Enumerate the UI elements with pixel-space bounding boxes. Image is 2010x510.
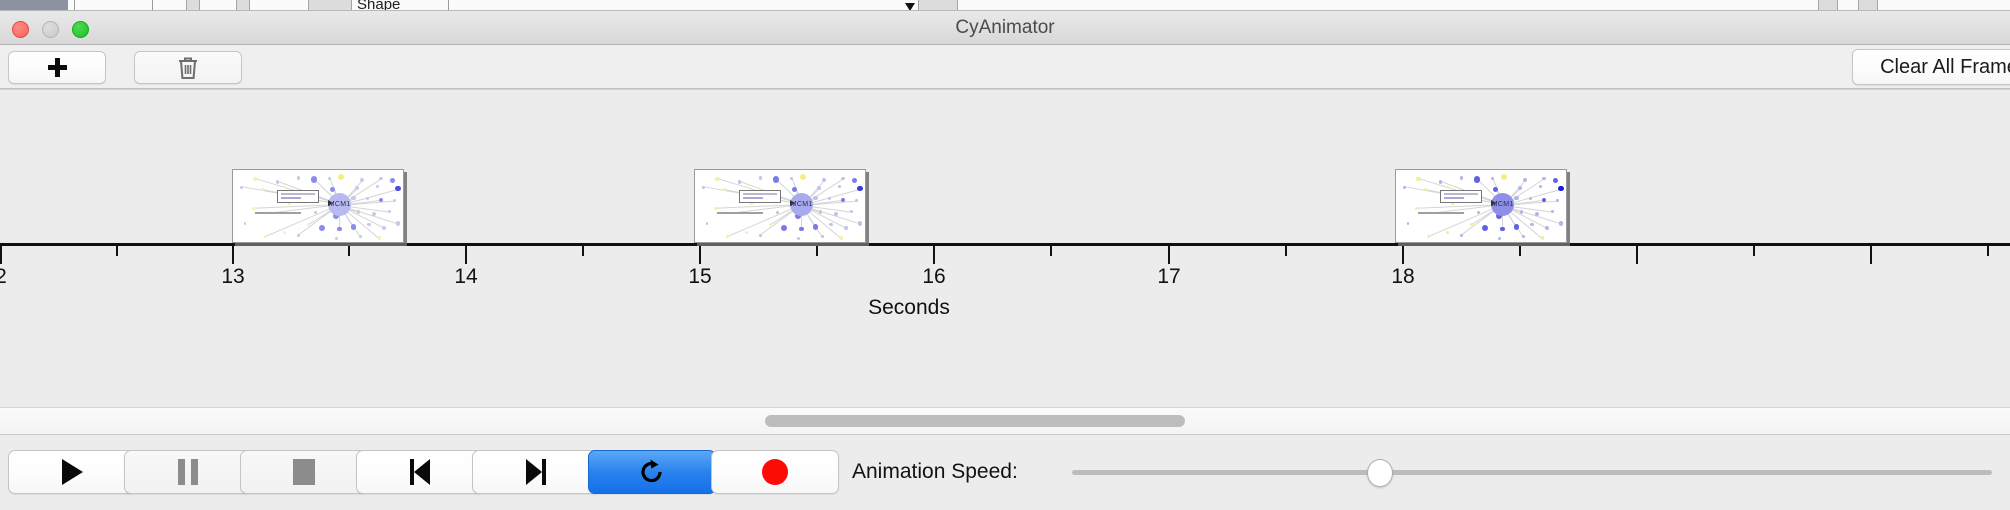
graph-node — [828, 197, 831, 200]
title-bar: CyAnimator — [0, 11, 2010, 45]
record-button[interactable] — [711, 450, 839, 494]
graph-node — [395, 186, 401, 192]
loop-icon — [637, 457, 667, 487]
axis-tick-major — [465, 246, 467, 264]
graph-node — [297, 176, 301, 180]
graph-node — [797, 237, 800, 240]
background-box — [308, 0, 352, 11]
graph-node — [351, 196, 356, 201]
graph-node — [396, 221, 401, 226]
graph-node — [726, 235, 729, 238]
graph-node — [1514, 196, 1519, 201]
delete-frame-button[interactable] — [134, 51, 242, 84]
keyframe-network-graph: MCM1 — [1396, 170, 1566, 242]
graph-node — [1553, 178, 1558, 183]
pause-icon — [178, 459, 198, 485]
graph-node — [745, 231, 748, 234]
graph-node — [714, 207, 717, 210]
axis-tick-major — [1636, 246, 1638, 264]
loop-button[interactable] — [588, 450, 716, 494]
axis-tick-minor — [1753, 246, 1755, 256]
background-box — [236, 0, 250, 11]
graph-node — [1501, 174, 1507, 180]
graph-node — [1416, 177, 1421, 182]
keyframe-thumbnail[interactable]: MCM1 — [694, 169, 866, 243]
graph-node — [841, 198, 845, 202]
background-box — [186, 0, 200, 11]
stop-button[interactable] — [240, 450, 368, 494]
graph-annotation-text — [255, 212, 301, 214]
graph-node — [337, 227, 341, 231]
graph-node — [319, 225, 325, 231]
axis-tick-major — [1870, 246, 1872, 264]
axis-tick-label: 15 — [688, 265, 711, 289]
graph-node — [819, 210, 823, 214]
graph-node — [379, 177, 382, 180]
record-icon — [762, 459, 788, 485]
keyframe-thumbnail[interactable]: MCM1 — [1395, 169, 1567, 243]
background-box — [1818, 0, 1838, 11]
graph-node — [813, 196, 818, 201]
clear-all-frames-button[interactable]: Clear All Frames — [1852, 49, 2010, 85]
graph-node — [738, 180, 742, 184]
axis-tick-minor — [816, 246, 818, 256]
graph-node — [330, 187, 335, 192]
graph-node — [1514, 224, 1519, 229]
graph-node — [800, 174, 806, 180]
axis-tick-minor — [582, 246, 584, 256]
play-icon — [62, 459, 83, 485]
graph-node — [357, 210, 361, 214]
graph-annotation-text — [1418, 212, 1464, 214]
background-caret-icon — [905, 3, 915, 11]
keyframe-network-graph: MCM1 — [233, 170, 403, 242]
graph-node — [314, 211, 317, 214]
animation-speed-label: Animation Speed: — [852, 450, 1018, 494]
graph-node — [852, 178, 857, 183]
background-app-strip: Shape — [0, 0, 2010, 11]
graph-node — [366, 197, 369, 200]
graph-node — [855, 199, 858, 202]
graph-node — [359, 235, 362, 238]
graph-node — [379, 198, 383, 202]
timeline-panel[interactable]: 2131415161718 MCM1MCM1MCM1 Seconds — [0, 89, 2010, 407]
background-tick — [152, 0, 153, 11]
background-box — [1858, 0, 1878, 11]
axis-tick-minor — [1050, 246, 1052, 256]
axis-tick-label: 2 — [0, 265, 7, 289]
graph-node — [1403, 186, 1406, 189]
graph-node — [1477, 211, 1480, 214]
graph-node — [1493, 187, 1498, 192]
graph-node — [297, 234, 300, 237]
keyframe-network-graph: MCM1 — [695, 170, 865, 242]
graph-node — [1520, 210, 1524, 214]
graph-annotation-text — [717, 212, 763, 214]
graph-callout-arrow — [1491, 200, 1496, 206]
graph-node — [1518, 186, 1522, 190]
graph-node — [702, 186, 705, 189]
play-button[interactable] — [8, 450, 136, 494]
plus-icon — [48, 58, 67, 77]
graph-node — [759, 176, 763, 180]
graph-callout — [739, 190, 781, 203]
graph-node — [390, 178, 395, 183]
axis-tick-major — [1402, 246, 1404, 264]
graph-node — [1542, 198, 1546, 202]
axis-caption-label: Seconds — [868, 296, 950, 319]
slider-track — [1072, 470, 1992, 475]
graph-node — [276, 180, 280, 184]
graph-node — [1523, 178, 1527, 182]
graph-node — [817, 186, 821, 190]
axis-tick-major — [933, 246, 935, 264]
background-box — [918, 0, 958, 11]
graph-callout — [277, 190, 319, 203]
axis-tick-label: 17 — [1157, 265, 1180, 289]
graph-node — [1460, 176, 1464, 180]
horizontal-scrollbar[interactable] — [0, 407, 2010, 435]
background-tick — [74, 0, 75, 11]
graph-node — [1474, 176, 1481, 183]
graph-node — [792, 187, 797, 192]
skip-back-button[interactable] — [356, 450, 484, 494]
graph-node — [1542, 177, 1545, 180]
graph-node — [1498, 237, 1501, 240]
transport-bar: Animation Speed: — [0, 435, 2010, 510]
graph-node — [1415, 207, 1418, 210]
slider-thumb[interactable] — [1367, 459, 1393, 487]
stop-icon — [293, 459, 315, 485]
background-dark-block — [0, 0, 68, 11]
skip-forward-icon — [526, 459, 546, 485]
axis-tick-label: 16 — [922, 265, 945, 289]
scrollbar-thumb[interactable] — [765, 415, 1185, 427]
graph-node — [311, 176, 318, 183]
graph-node — [1541, 236, 1544, 239]
toolbar: Clear All Frames — [0, 45, 2010, 89]
graph-node — [388, 210, 391, 213]
graph-node — [264, 235, 267, 238]
graph-node — [821, 235, 824, 238]
graph-node — [1559, 221, 1564, 226]
axis-tick-major — [232, 246, 234, 264]
graph-node — [338, 174, 344, 180]
graph-node — [841, 177, 844, 180]
graph-node — [252, 207, 255, 210]
axis-tick-label: 13 — [221, 265, 244, 289]
graph-node — [773, 176, 780, 183]
graph-node — [244, 222, 247, 225]
background-tick — [448, 0, 449, 11]
graph-node — [850, 210, 853, 213]
graph-node — [355, 186, 359, 190]
keyframe-thumbnail[interactable]: MCM1 — [232, 169, 404, 243]
graph-node — [240, 186, 243, 189]
graph-node — [367, 223, 370, 226]
graph-node — [351, 224, 356, 229]
axis-tick-minor — [1987, 246, 1989, 256]
window-title: CyAnimator — [0, 11, 2010, 45]
graph-node — [1482, 225, 1488, 231]
graph-node — [1522, 235, 1525, 238]
graph-node — [858, 221, 863, 226]
graph-node — [813, 224, 818, 229]
skip-forward-button[interactable] — [472, 450, 600, 494]
axis-caption: Seconds — [0, 296, 2010, 320]
graph-node — [706, 222, 709, 225]
graph-callout-arrow — [790, 200, 795, 206]
graph-node — [829, 223, 832, 226]
graph-node — [840, 236, 843, 239]
axis-tick-major — [1168, 246, 1170, 264]
graph-node — [1427, 235, 1430, 238]
trash-icon — [176, 55, 200, 81]
graph-node — [1529, 197, 1532, 200]
axis-tick-major — [0, 246, 2, 264]
graph-node — [1551, 210, 1554, 213]
graph-node — [283, 231, 286, 234]
clear-all-frames-label: Clear All Frames — [1880, 56, 2010, 79]
graph-node — [1530, 223, 1533, 226]
graph-node — [1556, 199, 1559, 202]
skip-back-icon — [410, 459, 430, 485]
animation-speed-slider[interactable] — [1072, 450, 1992, 494]
graph-node — [360, 178, 364, 182]
axis-tick-minor — [1519, 246, 1521, 256]
graph-node — [378, 236, 381, 239]
pause-button[interactable] — [124, 450, 252, 494]
add-frame-button[interactable] — [8, 51, 106, 84]
graph-node — [799, 227, 803, 231]
graph-node — [335, 237, 338, 240]
graph-node — [1446, 231, 1449, 234]
axis-tick-minor — [116, 246, 118, 256]
graph-node — [844, 226, 848, 230]
axis-tick-label: 14 — [454, 265, 477, 289]
graph-node — [822, 178, 826, 182]
axis-tick-major — [699, 246, 701, 264]
graph-node — [1439, 180, 1443, 184]
graph-callout-arrow — [328, 200, 333, 206]
graph-node — [776, 211, 779, 214]
graph-node — [759, 234, 762, 237]
graph-node — [857, 186, 863, 192]
graph-node — [382, 226, 386, 230]
graph-callout — [1440, 190, 1482, 203]
timeline-axis — [0, 243, 2010, 246]
graph-node — [253, 177, 258, 182]
graph-node — [838, 185, 841, 188]
axis-tick-minor — [348, 246, 350, 256]
graph-node — [1500, 227, 1504, 231]
graph-node — [1558, 186, 1564, 192]
timeline-top-divider — [0, 89, 2010, 90]
graph-node — [1539, 185, 1542, 188]
axis-tick-label: 18 — [1391, 265, 1414, 289]
graph-node — [376, 185, 379, 188]
graph-node — [1460, 234, 1463, 237]
graph-node — [715, 177, 720, 182]
cyanimator-window: Shape CyAnimator Clear All Frames 213141… — [0, 0, 2010, 510]
background-app-word: Shape — [357, 0, 400, 11]
graph-node — [781, 225, 787, 231]
axis-tick-minor — [1285, 246, 1287, 256]
graph-node — [393, 199, 396, 202]
graph-node — [1545, 226, 1549, 230]
graph-node — [1407, 222, 1410, 225]
